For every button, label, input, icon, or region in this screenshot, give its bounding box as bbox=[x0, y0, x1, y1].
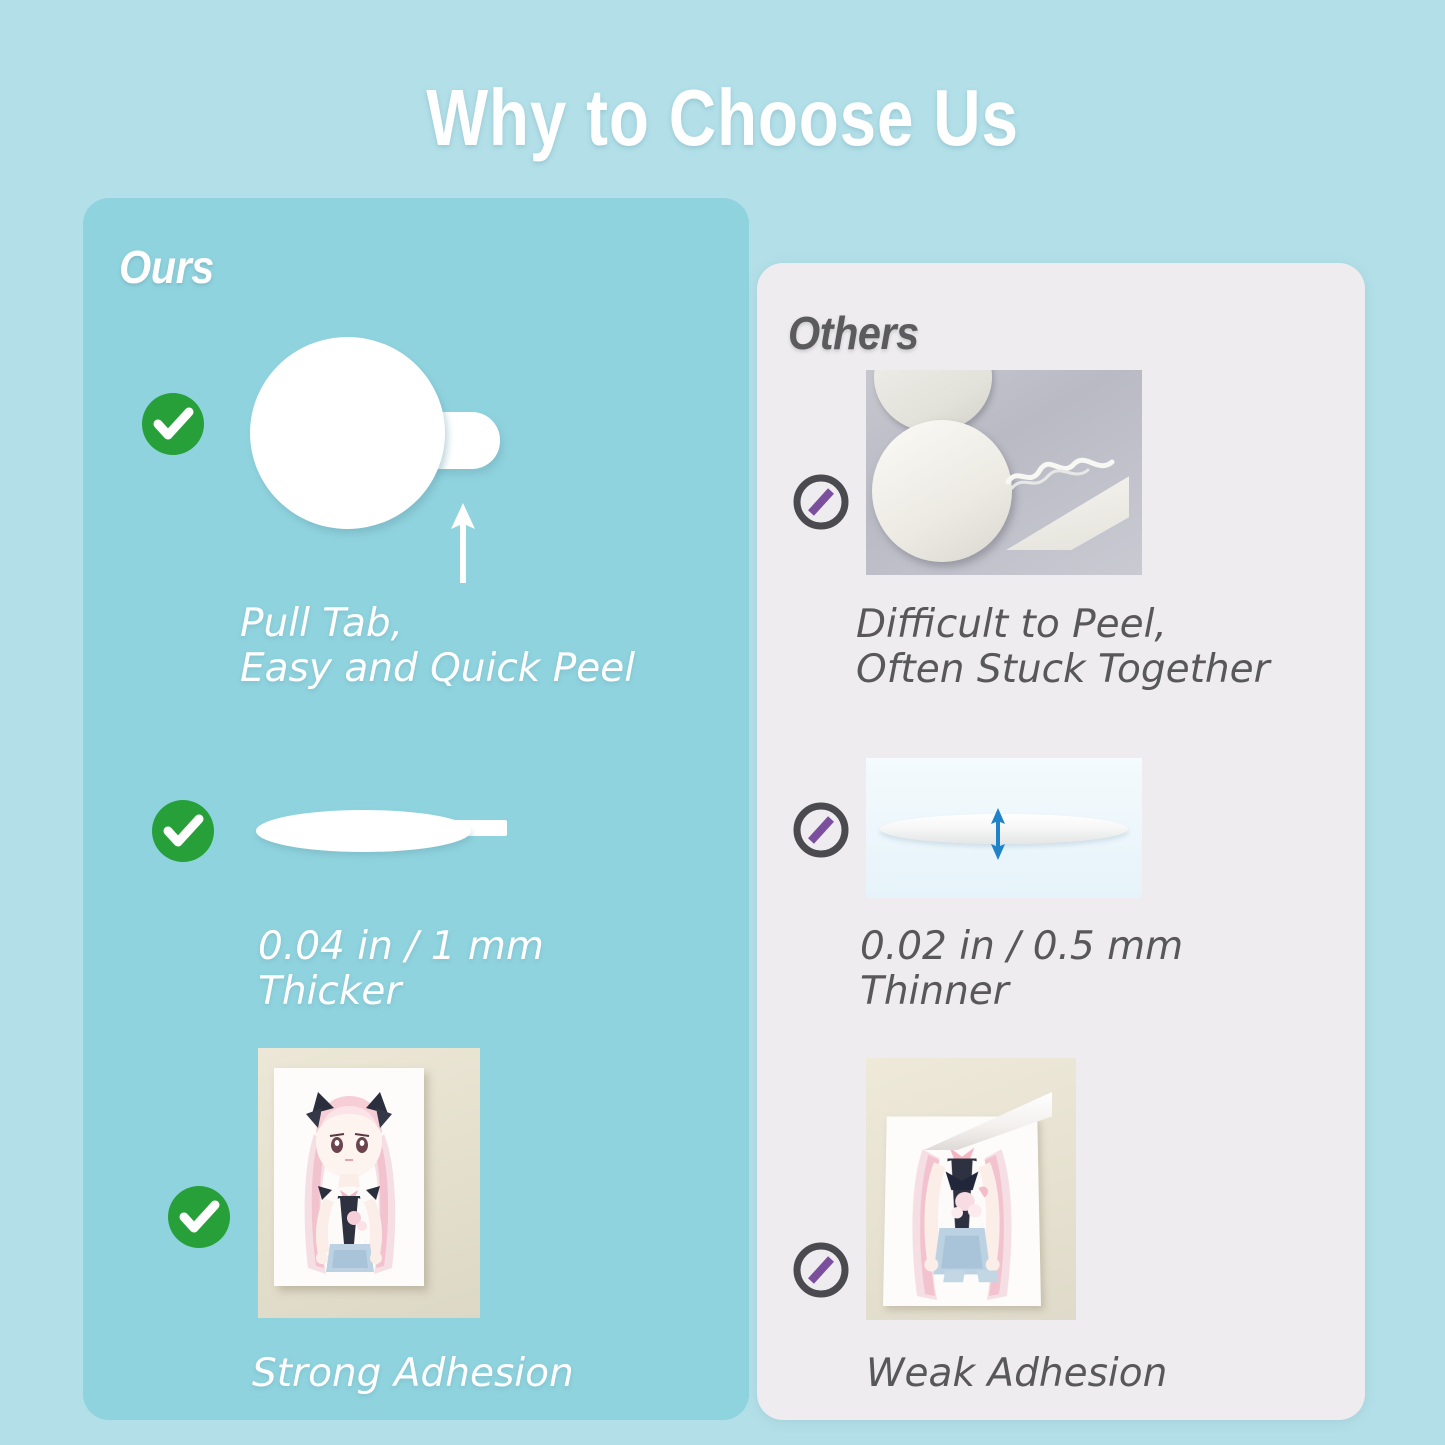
stuck-disc-lower bbox=[872, 420, 1012, 562]
panel-others-label: Others bbox=[788, 306, 919, 360]
prohibited-icon bbox=[791, 1240, 851, 1300]
green-check-icon bbox=[152, 800, 214, 862]
crinkled-film-detail bbox=[1004, 448, 1124, 496]
page-title: Why to Choose Us bbox=[130, 78, 1315, 158]
caption-adhesion-ours: Strong Adhesion bbox=[252, 1352, 574, 1397]
photo-thin-disc bbox=[866, 758, 1142, 898]
poster-artwork bbox=[274, 1068, 424, 1286]
caption-pull-tab: Pull Tab, Easy and Quick Peel bbox=[240, 602, 635, 692]
sticker-disc-shape bbox=[250, 337, 445, 529]
prohibited-icon bbox=[791, 472, 851, 532]
thickness-double-arrow-icon bbox=[988, 808, 1008, 860]
caption-adhesion-others: Weak Adhesion bbox=[866, 1352, 1167, 1397]
prohibited-icon bbox=[791, 800, 851, 860]
strip-body-shape bbox=[256, 810, 471, 852]
pull-tab-arrow-icon bbox=[443, 497, 483, 585]
caption-thickness-others: 0.02 in / 0.5 mm Thinner bbox=[860, 925, 1183, 1015]
photo-poster-peeling bbox=[866, 1058, 1076, 1320]
green-check-icon bbox=[168, 1186, 230, 1248]
photo-poster-flat bbox=[258, 1048, 480, 1318]
caption-thickness-ours: 0.04 in / 1 mm Thicker bbox=[258, 925, 544, 1015]
green-check-icon bbox=[142, 393, 204, 455]
caption-difficult-peel: Difficult to Peel, Often Stuck Together bbox=[856, 603, 1270, 693]
panel-ours-label: Ours bbox=[119, 240, 214, 294]
photo-stickers-stuck-together bbox=[866, 370, 1142, 575]
thick-disc-edge-illustration bbox=[256, 800, 516, 862]
